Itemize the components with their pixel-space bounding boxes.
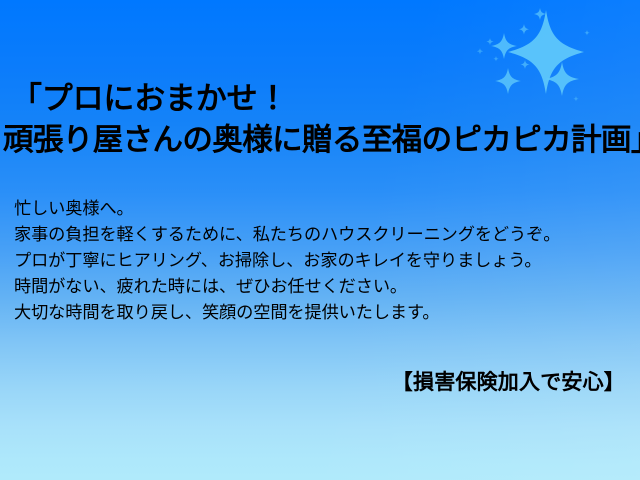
sparkle-small-icon-1	[491, 33, 517, 59]
body-copy: 忙しい奥様へ。 家事の負担を軽くするために、私たちのハウスクリーニングをどうぞ。…	[14, 196, 626, 326]
headline-line-2: 頑張り屋さんの奥様に贈る至福のピカピカ計画」	[3, 120, 637, 162]
sparkle-tiny-icon-7	[584, 30, 590, 36]
headline-line-1: 「プロにおまかせ！	[11, 78, 637, 120]
sparkle-tiny-icon-4	[486, 38, 493, 45]
sparkle-tiny-icon-5	[477, 48, 483, 54]
body-line-2: 家事の負担を軽くするために、私たちのハウスクリーニングをどうぞ。	[14, 222, 626, 248]
sparkle-tiny-icon-1	[534, 8, 546, 20]
body-line-5: 大切な時間を取り戻し、笑顔の空間を提供いたします。	[14, 300, 626, 326]
cleaning-service-banner: 「プロにおまかせ！ 頑張り屋さんの奥様に贈る至福のピカピカ計画」 忙しい奥様へ。…	[0, 0, 640, 480]
sparkle-tiny-icon-3	[521, 60, 530, 69]
insurance-note: 【損害保険加入で安心】	[392, 368, 625, 396]
body-line-3: プロが丁寧にヒアリング、お掃除し、お家のキレイを守りましょう。	[14, 248, 626, 274]
body-line-1: 忙しい奥様へ。	[14, 196, 626, 222]
sparkle-tiny-icon-6	[493, 56, 499, 62]
body-line-4: 時間がない、疲れた時には、ぜひお任せください。	[14, 274, 626, 300]
headline: 「プロにおまかせ！ 頑張り屋さんの奥様に贈る至福のピカピカ計画」	[11, 78, 637, 162]
sparkle-tiny-icon-2	[519, 24, 529, 35]
